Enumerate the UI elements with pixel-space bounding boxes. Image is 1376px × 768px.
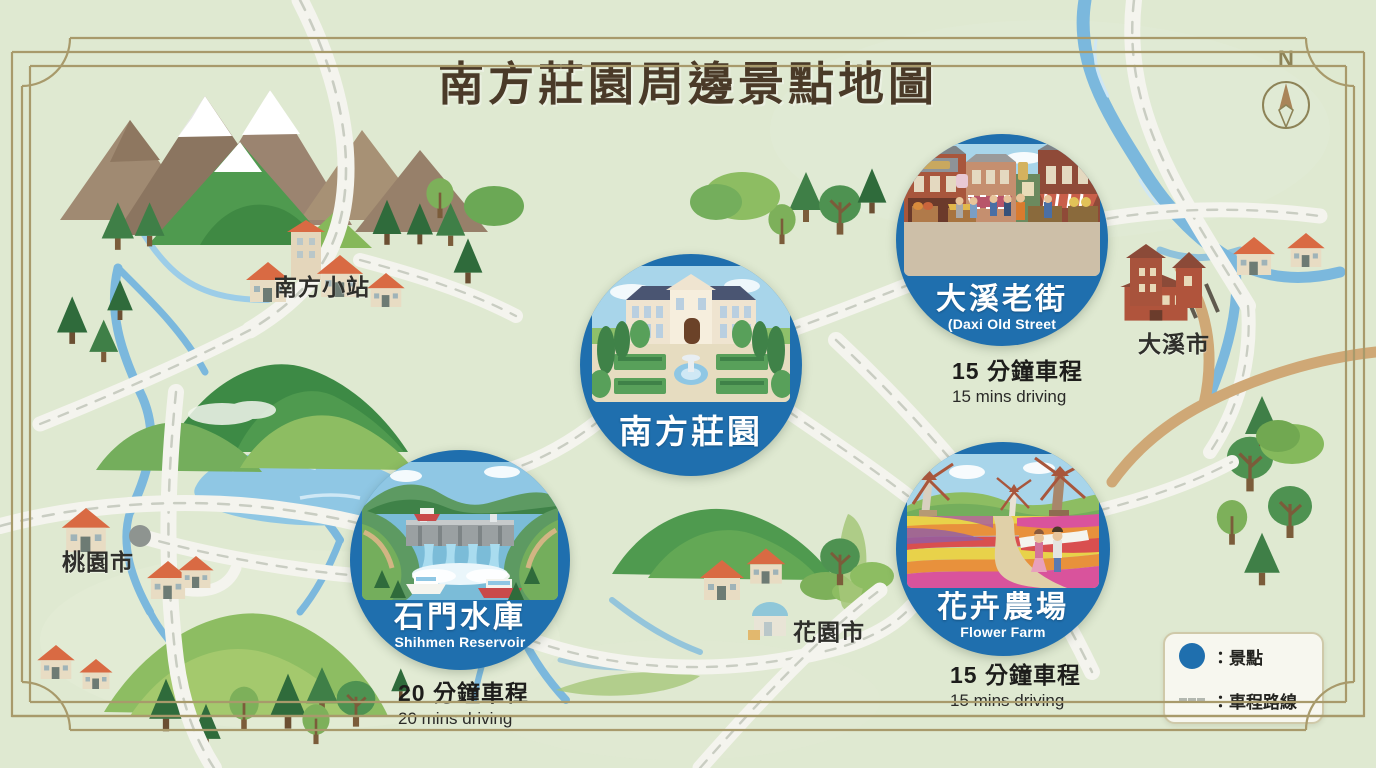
blue-circle-icon [1179, 643, 1205, 669]
page-title: 南方莊園周邊景點地圖 [0, 48, 1376, 114]
attraction-label-en: Shihmen Reservoir [350, 634, 570, 650]
attraction-label-zh: 石門水庫 [350, 602, 570, 634]
attraction-label-zh: 南方莊園 [580, 415, 802, 450]
manor-house-garden-illustration [592, 266, 790, 402]
old-street-shophouses-illustration [904, 144, 1100, 276]
dashed-line-icon [1179, 698, 1205, 702]
town-label-nanfang-station: 南方小站 [274, 268, 370, 302]
town-label-daxi-city: 大溪市 [1138, 325, 1210, 359]
attraction-flower-farm[interactable]: 花卉農場 Flower Farm [896, 442, 1110, 656]
town-label-taoyuan-city: 桃園市 [62, 543, 134, 577]
compass-north-label: N [1255, 48, 1317, 70]
legend-text: 車程路線 [1229, 693, 1297, 712]
drive-time-shihmen: 20 分鐘車程 20 mins driving [398, 674, 529, 729]
legend-text: 景點 [1229, 649, 1263, 668]
compass-rose-icon [1255, 74, 1317, 136]
drive-time-en: 20 mins driving [398, 709, 529, 729]
attraction-label-en: (Daxi Old Street [896, 316, 1108, 332]
drive-time-en: 15 mins driving [950, 691, 1081, 711]
attraction-shihmen-reservoir[interactable]: 石門水庫 Shihmen Reservoir [350, 450, 570, 670]
dam-reservoir-boats-illustration [362, 462, 558, 600]
legend-item-route: ：車程路線 [1165, 678, 1322, 722]
legend-separator: ： [1212, 693, 1229, 712]
drive-time-zh: 20 分鐘車程 [398, 674, 529, 708]
attraction-label-zh: 大溪老街 [896, 284, 1108, 316]
map-canvas: 南方莊園周邊景點地圖 N [0, 0, 1376, 768]
attraction-daxi-old-street[interactable]: 大溪老街 (Daxi Old Street [896, 134, 1108, 346]
legend-panel: ：景點 ：車程路線 [1163, 632, 1324, 724]
legend-label-route: ：車程路線 [1212, 688, 1297, 713]
drive-time-zh: 15 分鐘車程 [950, 656, 1081, 690]
drive-time-en: 15 mins driving [952, 387, 1083, 407]
legend-item-attraction: ：景點 [1165, 634, 1322, 678]
drive-time-zh: 15 分鐘車程 [952, 352, 1083, 386]
legend-label-attraction: ：景點 [1212, 644, 1263, 669]
drive-time-daxi: 15 分鐘車程 15 mins driving [952, 352, 1083, 407]
legend-separator: ： [1212, 649, 1229, 668]
compass-rose: N [1255, 48, 1317, 144]
attraction-label-zh: 花卉農場 [896, 592, 1110, 624]
windmill-tulip-fields-illustration [907, 454, 1099, 588]
attraction-nanfang-manor[interactable]: 南方莊園 [580, 254, 802, 476]
town-label-garden-city: 花園市 [793, 613, 865, 647]
drive-time-flower-farm: 15 分鐘車程 15 mins driving [950, 656, 1081, 711]
attraction-label-en: Flower Farm [896, 624, 1110, 640]
